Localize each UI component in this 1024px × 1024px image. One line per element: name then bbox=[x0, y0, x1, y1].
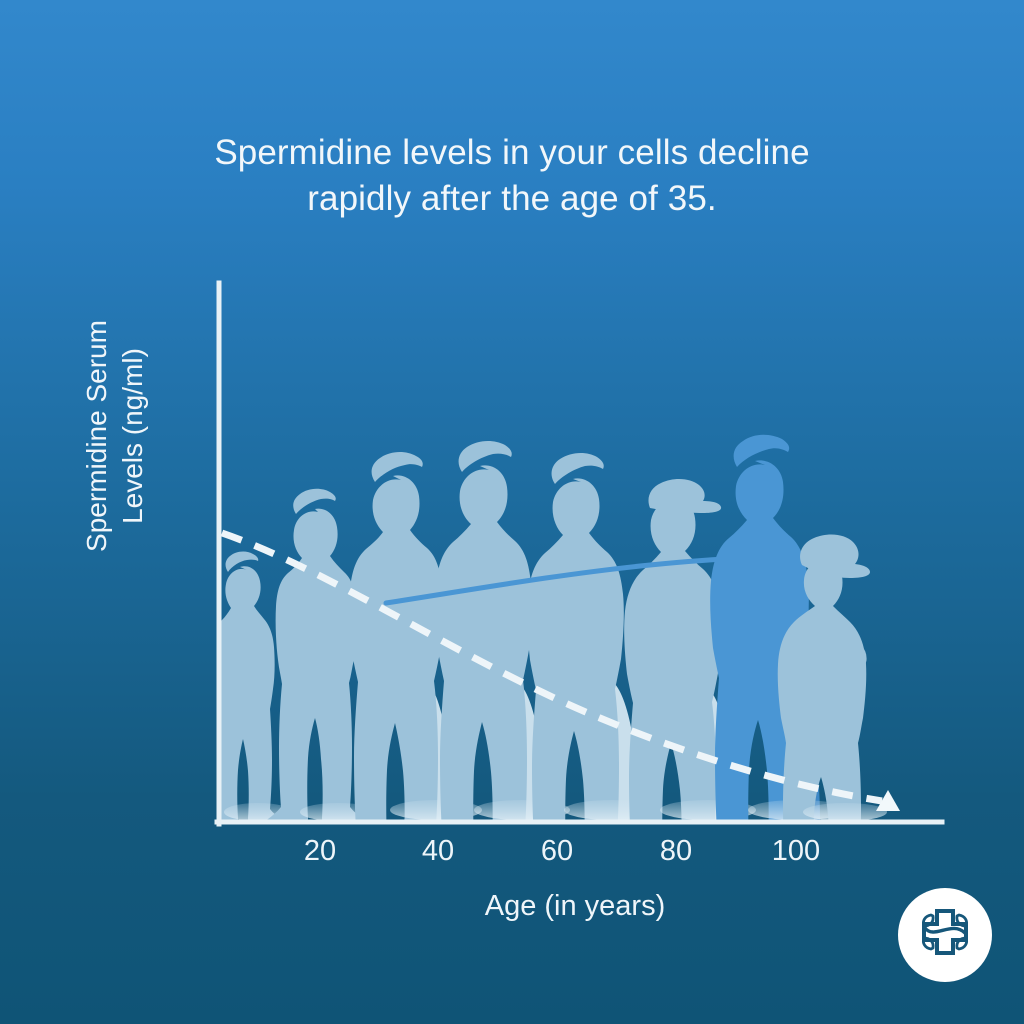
brand-logo bbox=[898, 888, 992, 982]
x-tick-label-20: 20 bbox=[280, 835, 360, 868]
medical-cross-leaf-icon bbox=[912, 902, 978, 968]
chart-svg bbox=[0, 0, 1024, 1024]
x-axis-title: Age (in years) bbox=[210, 890, 940, 923]
x-tick-label-40: 40 bbox=[398, 835, 478, 868]
x-tick-label-60: 60 bbox=[517, 835, 597, 868]
chart-container: Spermidine Serum Levels (ng/ml) 20 40 60… bbox=[0, 0, 1024, 1024]
infographic-poster: Spermidine levels in your cells decline … bbox=[0, 0, 1024, 1024]
x-tick-label-80: 80 bbox=[636, 835, 716, 868]
age-progression-silhouettes bbox=[203, 435, 887, 887]
x-tick-label-100: 100 bbox=[756, 835, 836, 868]
